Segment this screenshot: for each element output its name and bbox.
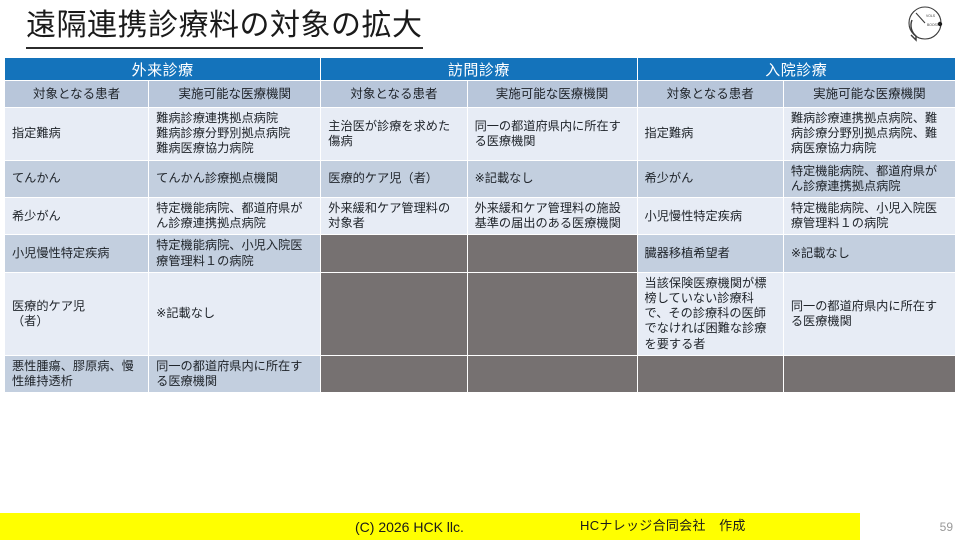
- table-cell-empty: [321, 272, 467, 355]
- sub-header-facilities-2: 実施可能な医療機関: [467, 81, 637, 108]
- copyright-text: (C) 2026 HCK llc.: [355, 518, 464, 536]
- table-cell-empty: [637, 355, 783, 392]
- table-row: てんかんてんかん診療拠点機関医療的ケア児（者）※記載なし希少がん特定機能病院、都…: [5, 160, 956, 197]
- logo-label-lower: BOOST: [927, 23, 939, 27]
- table-cell: 外来緩和ケア管理料の施設基準の届出のある医療機関: [467, 198, 637, 235]
- group-header-outpatient: 外来診療: [5, 58, 321, 81]
- table-cell: 特定機能病院、都道府県がん診療連携拠点病院: [783, 160, 955, 197]
- table-cell: 特定機能病院、小児入院医療管理料１の病院: [149, 235, 321, 272]
- table-cell: 主治医が診療を求めた傷病: [321, 108, 467, 161]
- sub-header-patients-3: 対象となる患者: [637, 81, 783, 108]
- table-cell-empty: [467, 272, 637, 355]
- table-cell: 小児慢性特定疾病: [5, 235, 149, 272]
- table-cell: てんかん: [5, 160, 149, 197]
- table-cell: 医療的ケア児（者）: [5, 272, 149, 355]
- table-cell: 当該保険医療機関が標榜していない診療科で、その診療科の医師でなければ困難な診療を…: [637, 272, 783, 355]
- table-cell-empty: [467, 235, 637, 272]
- table-row: 希少がん特定機能病院、都道府県がん診療連携拠点病院外来緩和ケア管理料の対象者外来…: [5, 198, 956, 235]
- table-row: 指定難病難病診療連携拠点病院難病診療分野別拠点病院難病医療協力病院主治医が診療を…: [5, 108, 956, 161]
- group-header-inpatient: 入院診療: [637, 58, 955, 81]
- sub-header-row: 対象となる患者 実施可能な医療機関 対象となる患者 実施可能な医療機関 対象とな…: [5, 81, 956, 108]
- sub-header-facilities-1: 実施可能な医療機関: [149, 81, 321, 108]
- table-cell: 希少がん: [5, 198, 149, 235]
- page-number: 59: [940, 520, 953, 534]
- table-cell: 希少がん: [637, 160, 783, 197]
- table-cell-empty: [783, 355, 955, 392]
- table-cell: 医療的ケア児（者）: [321, 160, 467, 197]
- page-title: 遠隔連携診療料の対象の拡大: [26, 6, 423, 49]
- sub-header-patients-2: 対象となる患者: [321, 81, 467, 108]
- sub-header-facilities-3: 実施可能な医療機関: [783, 81, 955, 108]
- table-row: 悪性腫瘍、膠原病、慢性維持透析同一の都道府県内に所在する医療機関: [5, 355, 956, 392]
- table-cell: ※記載なし: [149, 272, 321, 355]
- table-cell: ※記載なし: [783, 235, 955, 272]
- table-cell: 特定機能病院、小児入院医療管理料１の病院: [783, 198, 955, 235]
- table-cell: てんかん診療拠点機関: [149, 160, 321, 197]
- table-cell: 同一の都道府県内に所在する医療機関: [467, 108, 637, 161]
- table-row: 小児慢性特定疾病特定機能病院、小児入院医療管理料１の病院臓器移植希望者※記載なし: [5, 235, 956, 272]
- comparison-table: 外来診療 訪問診療 入院診療 対象となる患者 実施可能な医療機関 対象となる患者…: [4, 57, 956, 393]
- table-cell-empty: [467, 355, 637, 392]
- table-cell: 指定難病: [5, 108, 149, 161]
- slide-root: 遠隔連携診療料の対象の拡大 VOLS BOOST 外来診療 訪問診療 入院診療 …: [0, 0, 960, 540]
- table-cell: ※記載なし: [467, 160, 637, 197]
- table-cell: 特定機能病院、都道府県がん診療連携拠点病院: [149, 198, 321, 235]
- table-row: 医療的ケア児（者）※記載なし当該保険医療機関が標榜していない診療科で、その診療科…: [5, 272, 956, 355]
- group-header-homevisit: 訪問診療: [321, 58, 637, 81]
- table-cell: 臓器移植希望者: [637, 235, 783, 272]
- table-cell: 指定難病: [637, 108, 783, 161]
- table-cell: 小児慢性特定疾病: [637, 198, 783, 235]
- logo-label-upper: VOLS: [926, 14, 936, 18]
- table-cell-empty: [321, 355, 467, 392]
- table-cell: 難病診療連携拠点病院難病診療分野別拠点病院難病医療協力病院: [149, 108, 321, 161]
- table-body: 指定難病難病診療連携拠点病院難病診療分野別拠点病院難病医療協力病院主治医が診療を…: [5, 108, 956, 393]
- maker-text: HCナレッジ合同会社 作成: [580, 517, 746, 535]
- group-header-row: 外来診療 訪問診療 入院診療: [5, 58, 956, 81]
- table-cell: 外来緩和ケア管理料の対象者: [321, 198, 467, 235]
- gauge-logo-icon: VOLS BOOST: [894, 2, 950, 46]
- table-cell: 悪性腫瘍、膠原病、慢性維持透析: [5, 355, 149, 392]
- table-cell: 難病診療連携拠点病院、難病診療分野別拠点病院、難病医療協力病院: [783, 108, 955, 161]
- table-cell: 同一の都道府県内に所在する医療機関: [149, 355, 321, 392]
- table-cell-empty: [321, 235, 467, 272]
- table-cell: 同一の都道府県内に所在する医療機関: [783, 272, 955, 355]
- sub-header-patients-1: 対象となる患者: [5, 81, 149, 108]
